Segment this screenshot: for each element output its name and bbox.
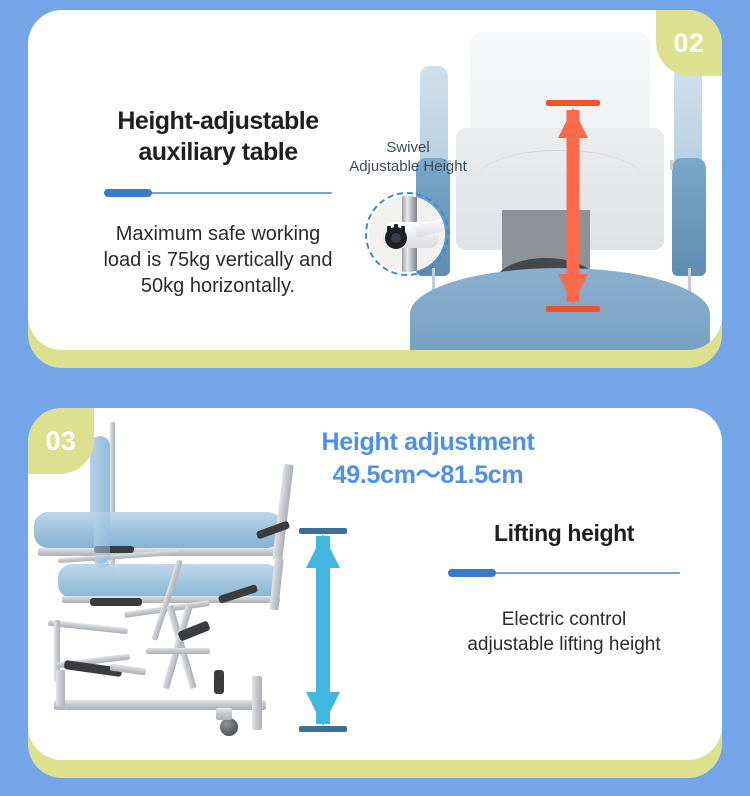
swivel-callout-label: Swivel Adjustable Height bbox=[328, 138, 488, 176]
badge-step-02: 02 bbox=[656, 10, 722, 76]
card-height-adjustable-auxiliary-table: Height-adjustable auxiliary table Maximu… bbox=[28, 10, 722, 350]
arrow-cap-bottom bbox=[299, 726, 347, 732]
badge-label: 02 bbox=[673, 28, 704, 59]
card-surface: Height adjustment 49.5cm～81.5cm Lifting … bbox=[28, 408, 722, 760]
card-two-text-block: Height-adjustable auxiliary table Maximu… bbox=[68, 106, 368, 299]
joint-clamp-photo-icon bbox=[365, 192, 449, 276]
page-title: Height-adjustable auxiliary table bbox=[68, 106, 368, 167]
card-three-text-block: Lifting height Electric control adjustab… bbox=[434, 520, 694, 658]
arrow-cap-top bbox=[546, 100, 600, 106]
arrow-cap-bottom bbox=[546, 306, 600, 312]
page-title: Lifting height bbox=[434, 520, 694, 547]
title-divider bbox=[104, 189, 332, 197]
arrow-head-down bbox=[558, 274, 588, 304]
height-adjustment-headline: Height adjustment 49.5cm～81.5cm bbox=[278, 426, 578, 492]
badge-label: 03 bbox=[45, 426, 76, 457]
arrow-head-down bbox=[306, 692, 340, 726]
card-surface: Height-adjustable auxiliary table Maximu… bbox=[28, 10, 722, 350]
card-lifting-height: Height adjustment 49.5cm～81.5cm Lifting … bbox=[28, 408, 722, 760]
arrow-head-up bbox=[558, 108, 588, 138]
arrow-head-up bbox=[306, 534, 340, 568]
title-divider bbox=[448, 569, 680, 577]
card-three-description: Electric control adjustable lifting heig… bbox=[434, 607, 694, 658]
vertical-double-arrow-icon-blue bbox=[288, 528, 358, 732]
vertical-double-arrow-icon-orange bbox=[530, 100, 616, 312]
card-two-description: Maximum safe working load is 75kg vertic… bbox=[68, 221, 368, 299]
